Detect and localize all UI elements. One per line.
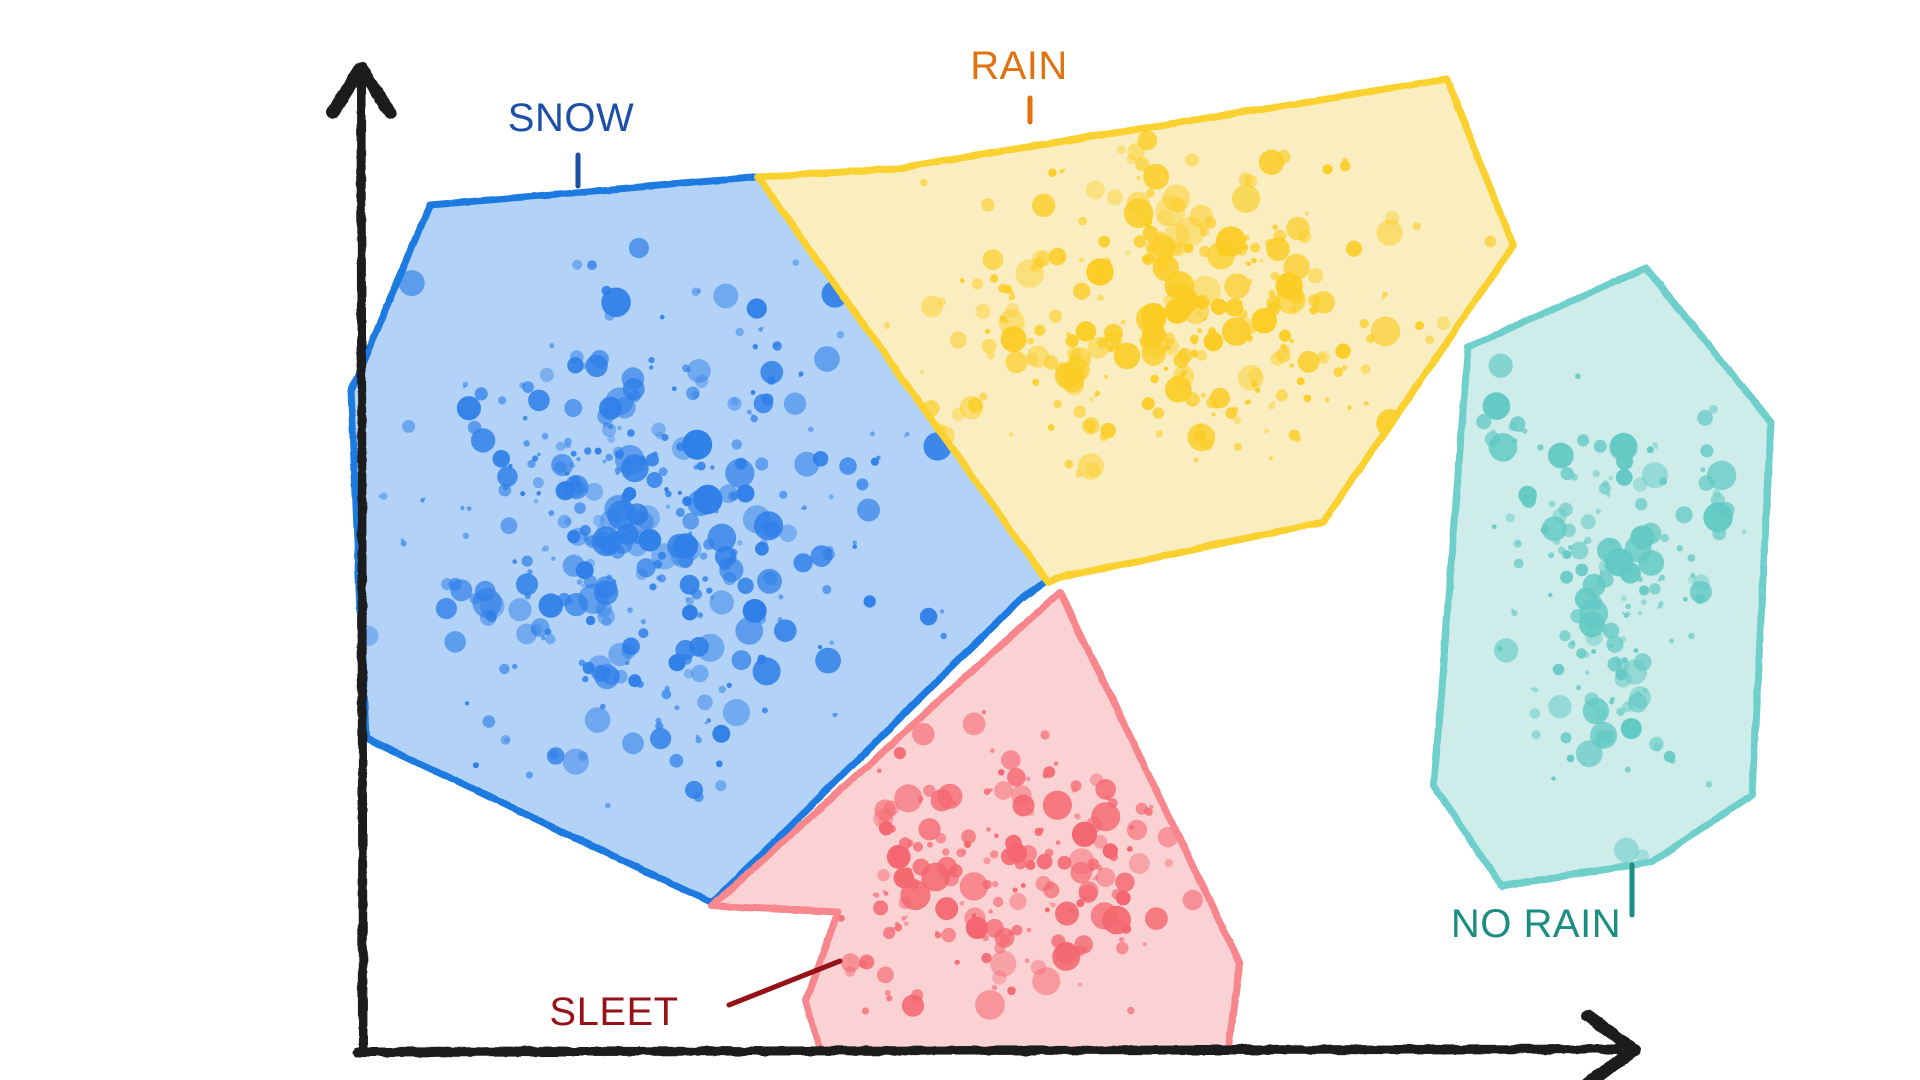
scatter-point bbox=[885, 990, 891, 996]
scatter-point bbox=[1076, 469, 1079, 472]
scatter-point bbox=[937, 784, 962, 809]
scatter-point bbox=[694, 792, 704, 802]
scatter-point bbox=[1039, 828, 1044, 833]
scatter-point bbox=[1614, 838, 1639, 863]
scatter-point bbox=[1290, 339, 1294, 343]
scatter-point bbox=[595, 448, 602, 455]
scatter-point bbox=[1055, 902, 1079, 926]
scatter-point bbox=[1021, 883, 1026, 888]
scatter-point bbox=[573, 465, 576, 468]
scatter-point bbox=[998, 769, 1004, 775]
scatter-point bbox=[1097, 297, 1100, 300]
scatter-point bbox=[878, 816, 889, 827]
scatter-point bbox=[534, 499, 538, 503]
scatter-point bbox=[1115, 873, 1134, 892]
scatter-point bbox=[691, 665, 709, 683]
scatter-point bbox=[578, 751, 588, 761]
scatter-point bbox=[877, 769, 881, 773]
scatter-point bbox=[990, 274, 998, 282]
scatter-point bbox=[1096, 865, 1102, 871]
scatter-point bbox=[617, 426, 621, 430]
scatter-point bbox=[1518, 486, 1537, 505]
scatter-point bbox=[665, 686, 670, 691]
scatter-point bbox=[1066, 334, 1079, 347]
scatter-point bbox=[972, 278, 983, 289]
scatter-point bbox=[1127, 1007, 1134, 1014]
scatter-point bbox=[873, 900, 888, 915]
scatter-point bbox=[1514, 559, 1524, 569]
scatter-point bbox=[508, 464, 512, 468]
scatter-point bbox=[982, 339, 997, 354]
scatter-point bbox=[1637, 577, 1643, 583]
scatter-point bbox=[1165, 859, 1173, 867]
scatter-point bbox=[1583, 540, 1587, 544]
scatter-point bbox=[779, 491, 787, 499]
scatter-point bbox=[920, 608, 938, 626]
scatter-point bbox=[794, 553, 813, 572]
annotation-snow[interactable]: SNOW bbox=[508, 96, 634, 186]
scatter-point bbox=[992, 970, 1006, 984]
scatter-point bbox=[590, 350, 609, 369]
scatter-point bbox=[761, 327, 763, 329]
scatter-point bbox=[1142, 317, 1156, 331]
scatter-point bbox=[641, 619, 646, 624]
scatter-point bbox=[1626, 611, 1631, 616]
scatter-point bbox=[1043, 791, 1072, 820]
scatter-point bbox=[1596, 731, 1603, 738]
scatter-point bbox=[551, 345, 554, 348]
scatter-point bbox=[1129, 853, 1150, 874]
scatter-point bbox=[927, 842, 933, 848]
scatter-point bbox=[1172, 281, 1190, 299]
scatter-point bbox=[1065, 376, 1084, 395]
scatter-point bbox=[1061, 257, 1065, 261]
scatter-point bbox=[1585, 670, 1589, 674]
scatter-point bbox=[1437, 316, 1451, 330]
scatter-point bbox=[1700, 444, 1713, 457]
scatter-point bbox=[1537, 444, 1544, 451]
scatter-point bbox=[1618, 710, 1623, 715]
scatter-point bbox=[710, 465, 714, 469]
scatter-point bbox=[1622, 657, 1628, 663]
scatter-point bbox=[1001, 750, 1021, 770]
scatter-point bbox=[853, 541, 855, 543]
scatter-point bbox=[992, 881, 999, 888]
scatter-point bbox=[1531, 687, 1534, 690]
scatter-point bbox=[1635, 498, 1647, 510]
scatter-point bbox=[1689, 634, 1693, 638]
scatter-point bbox=[1076, 471, 1082, 477]
scatter-point bbox=[1271, 300, 1279, 308]
scatter-point bbox=[774, 619, 797, 642]
scatter-point bbox=[1051, 934, 1065, 948]
scatter-point bbox=[853, 545, 856, 548]
scatter-point bbox=[723, 572, 736, 585]
scatter-point bbox=[1621, 595, 1627, 601]
scatter-point bbox=[1245, 400, 1250, 405]
scatter-point bbox=[713, 284, 738, 309]
scatter-point bbox=[723, 699, 750, 726]
cluster-label: NO RAIN bbox=[1451, 902, 1621, 946]
scatter-point bbox=[475, 387, 488, 400]
scatter-point bbox=[1669, 639, 1674, 644]
scatter-point bbox=[1078, 217, 1087, 226]
scatter-point bbox=[483, 715, 496, 728]
scatter-point bbox=[839, 457, 857, 475]
chart-canvas: SNOWRAINSLEETNO RAIN bbox=[0, 0, 1920, 1080]
scatter-point bbox=[1653, 743, 1661, 751]
scatter-point bbox=[908, 878, 919, 889]
scatter-point bbox=[1298, 351, 1320, 373]
scatter-point bbox=[1560, 571, 1573, 584]
scatter-point bbox=[1567, 755, 1575, 763]
scatter-point bbox=[676, 508, 685, 517]
scatter-point bbox=[697, 695, 713, 711]
scatter-point bbox=[1575, 373, 1581, 379]
scatter-point bbox=[1049, 902, 1052, 905]
scatter-point bbox=[725, 459, 754, 488]
scatter-point bbox=[961, 849, 966, 854]
scatter-point bbox=[1361, 364, 1371, 374]
scatter-point bbox=[1007, 768, 1026, 787]
scatter-point bbox=[1190, 334, 1199, 343]
scatter-point bbox=[1323, 164, 1333, 174]
scatter-point bbox=[1100, 433, 1108, 441]
scatter-point bbox=[607, 500, 637, 530]
scatter-point bbox=[592, 527, 622, 557]
scatter-point bbox=[1616, 469, 1633, 486]
scatter-point bbox=[876, 456, 880, 460]
scatter-point bbox=[585, 707, 611, 733]
scatter-point bbox=[755, 457, 768, 470]
scatter-point bbox=[586, 559, 595, 568]
scatter-point bbox=[1032, 379, 1039, 386]
scatter-point bbox=[981, 953, 991, 963]
scatter-point bbox=[987, 351, 995, 359]
scatter-point bbox=[778, 617, 783, 622]
scatter-point bbox=[1048, 168, 1057, 177]
scatter-point bbox=[1713, 489, 1721, 497]
scatter-point bbox=[1094, 394, 1097, 397]
scatter-point bbox=[637, 558, 656, 577]
scatter-point bbox=[1129, 825, 1134, 830]
scatter-point bbox=[577, 579, 583, 585]
scatter-point bbox=[1027, 807, 1031, 811]
scatter-point bbox=[877, 967, 894, 984]
scatter-point bbox=[696, 735, 700, 739]
scatter-point bbox=[571, 451, 577, 457]
scatter-point bbox=[1264, 429, 1269, 434]
scatter-point bbox=[1248, 282, 1251, 285]
scatter-point bbox=[667, 534, 692, 559]
scatter-point bbox=[1233, 248, 1239, 254]
cluster-no-rain[interactable] bbox=[1434, 268, 1771, 886]
scatter-point bbox=[463, 385, 466, 388]
scatter-point bbox=[1234, 443, 1242, 451]
scatter-point bbox=[753, 344, 758, 349]
scatter-point bbox=[1485, 236, 1497, 248]
scatter-point bbox=[1244, 318, 1252, 326]
scatter-point bbox=[531, 618, 550, 637]
x-axis-line bbox=[358, 1049, 1618, 1052]
scatter-point bbox=[1633, 648, 1638, 653]
scatter-point bbox=[378, 494, 382, 498]
scatter-point bbox=[1000, 934, 1010, 944]
scatter-point bbox=[1506, 513, 1515, 522]
scatter-point bbox=[670, 754, 684, 768]
scatter-point bbox=[808, 427, 814, 433]
scatter-point bbox=[1027, 338, 1034, 345]
scatter-point bbox=[554, 461, 566, 473]
scatter-point bbox=[836, 713, 838, 715]
scatter-point bbox=[1382, 292, 1388, 298]
scatter-point bbox=[1054, 761, 1058, 765]
scatter-point bbox=[1104, 324, 1123, 343]
scatter-point bbox=[1105, 374, 1107, 376]
scatter-point bbox=[1031, 960, 1046, 975]
scatter-point bbox=[1562, 524, 1576, 538]
scatter-point bbox=[960, 278, 965, 283]
scatter-point bbox=[757, 658, 764, 665]
scatter-point bbox=[870, 431, 875, 436]
scatter-point bbox=[1121, 320, 1126, 325]
scatter-point bbox=[950, 331, 967, 348]
scatter-point bbox=[779, 595, 782, 598]
scatter-point bbox=[1250, 243, 1260, 253]
scatter-point bbox=[441, 578, 453, 590]
scatter-point bbox=[737, 540, 742, 545]
scatter-point bbox=[1568, 642, 1575, 649]
scatter-point bbox=[1145, 907, 1168, 930]
scatter-point bbox=[1073, 283, 1090, 300]
scatter-point bbox=[1207, 336, 1218, 347]
scatter-point bbox=[773, 343, 778, 348]
scatter-point bbox=[1585, 692, 1600, 707]
scatter-point bbox=[1707, 461, 1736, 490]
scatter-point bbox=[522, 556, 533, 567]
scatter-point bbox=[960, 872, 988, 900]
scatter-point bbox=[1150, 375, 1158, 383]
scatter-point bbox=[401, 541, 407, 547]
scatter-point bbox=[1476, 414, 1491, 429]
scatter-point bbox=[731, 398, 739, 406]
scatter-point bbox=[1688, 554, 1696, 562]
scatter-point bbox=[757, 615, 766, 624]
scatter-point bbox=[1105, 795, 1110, 800]
scatter-point bbox=[1048, 424, 1055, 431]
scatter-point bbox=[584, 447, 591, 454]
scatter-point bbox=[1244, 235, 1250, 241]
scatter-point bbox=[542, 548, 545, 551]
scatter-point bbox=[986, 827, 990, 831]
scatter-point bbox=[913, 859, 930, 876]
scatter-point bbox=[779, 525, 797, 543]
scatter-point bbox=[604, 310, 614, 320]
scatter-point bbox=[1214, 403, 1220, 409]
scatter-point bbox=[1683, 597, 1688, 602]
scatter-point bbox=[1196, 350, 1207, 361]
scatter-cluster-plot: SNOWRAINSLEETNO RAIN bbox=[0, 0, 1920, 1080]
scatter-point bbox=[1583, 574, 1606, 597]
scatter-point bbox=[1485, 432, 1501, 448]
scatter-point bbox=[1201, 393, 1206, 398]
scatter-point bbox=[467, 507, 470, 510]
scatter-point bbox=[1533, 687, 1539, 693]
scatter-point bbox=[574, 502, 586, 514]
scatter-point bbox=[1489, 354, 1513, 378]
scatter-point bbox=[706, 718, 711, 723]
scatter-point bbox=[1700, 467, 1705, 472]
scatter-point bbox=[582, 676, 588, 682]
scatter-point bbox=[1640, 693, 1642, 695]
scatter-point bbox=[732, 439, 742, 449]
scatter-point bbox=[1621, 718, 1642, 739]
scatter-point bbox=[512, 559, 517, 564]
scatter-point bbox=[1107, 189, 1123, 205]
scatter-point bbox=[1102, 906, 1131, 935]
scatter-point bbox=[856, 478, 868, 490]
scatter-point bbox=[498, 396, 506, 404]
scatter-point bbox=[975, 304, 990, 319]
scatter-point bbox=[1413, 222, 1421, 230]
scatter-point bbox=[904, 922, 908, 926]
scatter-point bbox=[737, 578, 753, 594]
scatter-point bbox=[1143, 253, 1155, 265]
scatter-point bbox=[1559, 503, 1573, 517]
scatter-point bbox=[523, 416, 528, 421]
scatter-point bbox=[1005, 351, 1027, 373]
scatter-point bbox=[585, 483, 603, 501]
scatter-point bbox=[949, 864, 963, 878]
scatter-point bbox=[602, 617, 612, 627]
scatter-point bbox=[1168, 241, 1183, 256]
scatter-point bbox=[1371, 317, 1401, 347]
scatter-point bbox=[1071, 787, 1077, 793]
scatter-point bbox=[1026, 777, 1031, 782]
scatter-point bbox=[1492, 524, 1497, 529]
scatter-point bbox=[607, 435, 615, 443]
scatter-point bbox=[1056, 840, 1061, 845]
scatter-point bbox=[627, 429, 635, 437]
scatter-point bbox=[1669, 758, 1675, 764]
scatter-point bbox=[857, 499, 880, 522]
scatter-point bbox=[1581, 514, 1596, 529]
scatter-point bbox=[638, 628, 648, 638]
scatter-point bbox=[1157, 210, 1174, 227]
scatter-point bbox=[597, 525, 605, 533]
scatter-point bbox=[1695, 594, 1706, 605]
scatter-point bbox=[1582, 762, 1586, 766]
scatter-point bbox=[629, 238, 649, 258]
scatter-point bbox=[923, 785, 935, 797]
scatter-point bbox=[1276, 389, 1288, 401]
scatter-point bbox=[564, 399, 582, 417]
scatter-point bbox=[533, 477, 544, 488]
scatter-point bbox=[794, 452, 819, 477]
scatter-point bbox=[784, 393, 806, 415]
scatter-point bbox=[907, 840, 914, 847]
scatter-point bbox=[664, 487, 668, 491]
scatter-point bbox=[837, 331, 845, 339]
scatter-point bbox=[1009, 432, 1014, 437]
scatter-point bbox=[1272, 401, 1276, 405]
scatter-point bbox=[503, 485, 509, 491]
scatter-point bbox=[563, 443, 568, 448]
scatter-point bbox=[1548, 593, 1552, 597]
scatter-point bbox=[1335, 344, 1350, 359]
scatter-point bbox=[1709, 405, 1718, 414]
scatter-point bbox=[1559, 630, 1570, 641]
scatter-point bbox=[981, 198, 994, 211]
scatter-point bbox=[1360, 319, 1369, 328]
scatter-point bbox=[1005, 303, 1019, 317]
scatter-point bbox=[649, 365, 653, 369]
scatter-point bbox=[630, 491, 636, 497]
scatter-point bbox=[1045, 849, 1054, 858]
scatter-point bbox=[1171, 198, 1186, 213]
scatter-point bbox=[1143, 226, 1159, 242]
scatter-point bbox=[974, 926, 986, 938]
scatter-point bbox=[960, 901, 965, 906]
scatter-point bbox=[747, 298, 767, 318]
scatter-point bbox=[1088, 337, 1109, 358]
annotation-sleet[interactable]: SLEET bbox=[549, 961, 840, 1034]
scatter-point bbox=[549, 750, 559, 760]
scatter-point bbox=[1259, 259, 1263, 263]
scatter-point bbox=[899, 896, 912, 909]
scatter-point bbox=[1290, 363, 1294, 367]
annotation-rain[interactable]: RAIN bbox=[970, 44, 1068, 122]
scatter-point bbox=[528, 390, 550, 412]
scatter-point bbox=[952, 801, 956, 805]
scatter-point bbox=[883, 927, 895, 939]
scatter-point bbox=[1279, 330, 1291, 342]
scatter-point bbox=[1082, 947, 1088, 953]
scatter-point bbox=[845, 966, 855, 976]
scatter-point bbox=[742, 459, 746, 463]
scatter-point bbox=[1153, 407, 1164, 418]
scatter-point bbox=[1742, 529, 1746, 533]
scatter-point bbox=[826, 546, 833, 553]
scatter-point bbox=[1571, 542, 1589, 560]
scatter-point bbox=[672, 386, 677, 391]
scatter-point bbox=[1025, 958, 1030, 963]
scatter-point bbox=[689, 637, 709, 657]
scatter-point bbox=[1082, 259, 1084, 261]
scatter-point bbox=[761, 393, 773, 405]
scatter-point bbox=[1553, 664, 1565, 676]
scatter-point bbox=[697, 289, 702, 294]
cluster-label: SLEET bbox=[549, 990, 678, 1034]
scatter-point bbox=[480, 610, 496, 626]
scatter-point bbox=[1116, 942, 1128, 954]
scatter-point bbox=[1058, 856, 1072, 870]
scatter-point bbox=[822, 585, 831, 594]
scatter-point bbox=[1247, 262, 1251, 266]
scatter-point bbox=[1232, 185, 1260, 213]
scatter-point bbox=[1248, 368, 1262, 382]
scatter-point bbox=[935, 931, 938, 934]
scatter-point bbox=[1655, 446, 1658, 449]
scatter-point bbox=[1706, 781, 1713, 788]
scatter-point bbox=[886, 995, 892, 1001]
scatter-point bbox=[941, 928, 956, 943]
scatter-point bbox=[994, 987, 997, 990]
scatter-point bbox=[1511, 609, 1514, 612]
scatter-point bbox=[998, 284, 1007, 293]
scatter-point bbox=[1149, 805, 1153, 809]
scatter-point bbox=[637, 512, 648, 523]
